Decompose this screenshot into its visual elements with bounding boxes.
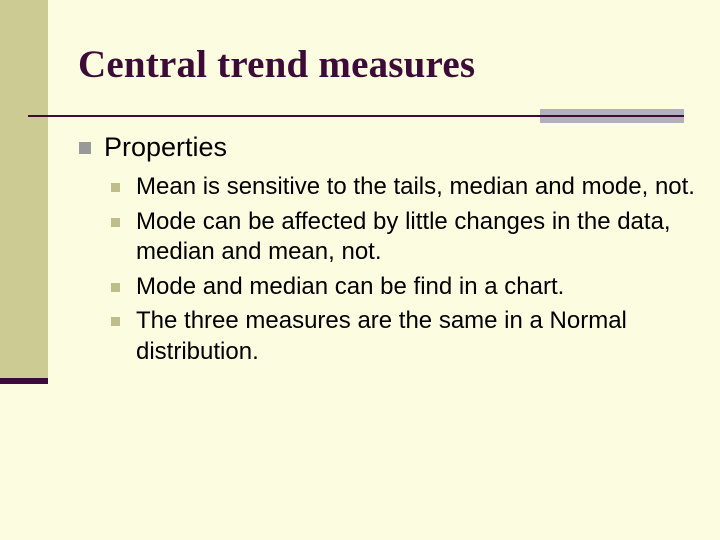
bullet-item-level2-label: Mode and median can be find in a chart. <box>136 273 564 300</box>
bullet-item-level2: Mean is sensitive to the tails, median a… <box>109 172 698 203</box>
square-bullet-gray-icon <box>79 142 91 154</box>
slide-body: Properties Mean is sensitive to the tail… <box>78 131 698 371</box>
bullet-item-level2-label: Mode can be affected by little changes i… <box>136 208 671 266</box>
left-decorative-band <box>0 0 48 378</box>
presentation-slide: Central trend measures Properties Mean i… <box>0 0 720 540</box>
bullet-item-level2-label: The three measures are the same in a Nor… <box>136 307 627 365</box>
left-band-accent-bar <box>0 378 48 384</box>
bullet-item-level2: The three measures are the same in a Nor… <box>109 306 698 367</box>
square-bullet-olive-icon <box>111 218 120 227</box>
square-bullet-olive-icon <box>111 183 120 192</box>
title-divider-rule <box>28 115 684 117</box>
bullet-item-level2: Mode can be affected by little changes i… <box>109 207 698 268</box>
bullet-item-level2-label: Mean is sensitive to the tails, median a… <box>136 173 695 200</box>
slide-title: Central trend measures <box>78 42 678 88</box>
square-bullet-olive-icon <box>111 317 120 326</box>
bullet-list-level2: Mean is sensitive to the tails, median a… <box>78 172 698 367</box>
square-bullet-olive-icon <box>111 283 120 292</box>
bullet-item-level2: Mode and median can be find in a chart. <box>109 272 698 303</box>
bullet-item-level1-label: Properties <box>104 132 227 162</box>
bullet-item-level1: Properties <box>78 131 698 164</box>
